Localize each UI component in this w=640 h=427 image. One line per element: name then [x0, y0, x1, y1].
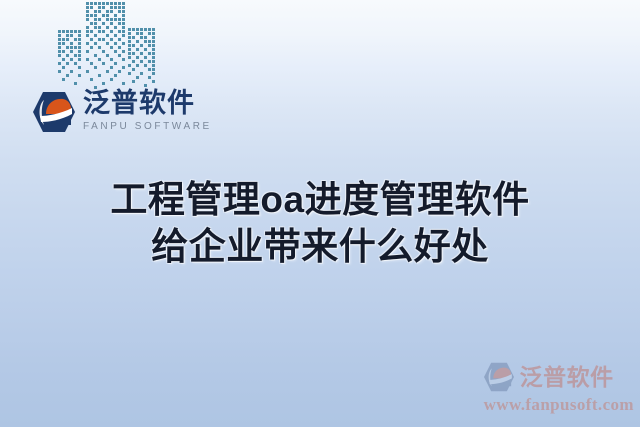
watermark-name-cn: 泛普软件	[520, 366, 614, 389]
watermark-url: www.fanpusoft.com	[484, 395, 634, 415]
fanpu-wordmark: 泛普软件 FANPU SOFTWARE	[83, 90, 212, 134]
fanpu-logo: 泛普软件 FANPU SOFTWARE	[32, 90, 212, 134]
logo-name-en: FANPU SOFTWARE	[83, 119, 212, 134]
promotional-banner: 泛普软件 FANPU SOFTWARE 工程管理oa进度管理软件 给企业带来什么…	[0, 0, 640, 427]
fanpu-hexagon-logo-icon	[32, 91, 76, 133]
headline-line-2: 给企业带来什么好处	[0, 223, 640, 270]
watermark: 泛普软件 www.fanpusoft.com	[482, 362, 634, 415]
fanpu-hexagon-logo-icon	[482, 362, 516, 392]
page-title: 工程管理oa进度管理软件 给企业带来什么好处	[0, 176, 640, 270]
headline-line-1: 工程管理oa进度管理软件	[0, 176, 640, 223]
watermark-logo-row: 泛普软件	[482, 362, 614, 392]
logo-name-cn: 泛普软件	[83, 90, 212, 118]
dotted-city-skyline-icon	[52, 0, 170, 90]
